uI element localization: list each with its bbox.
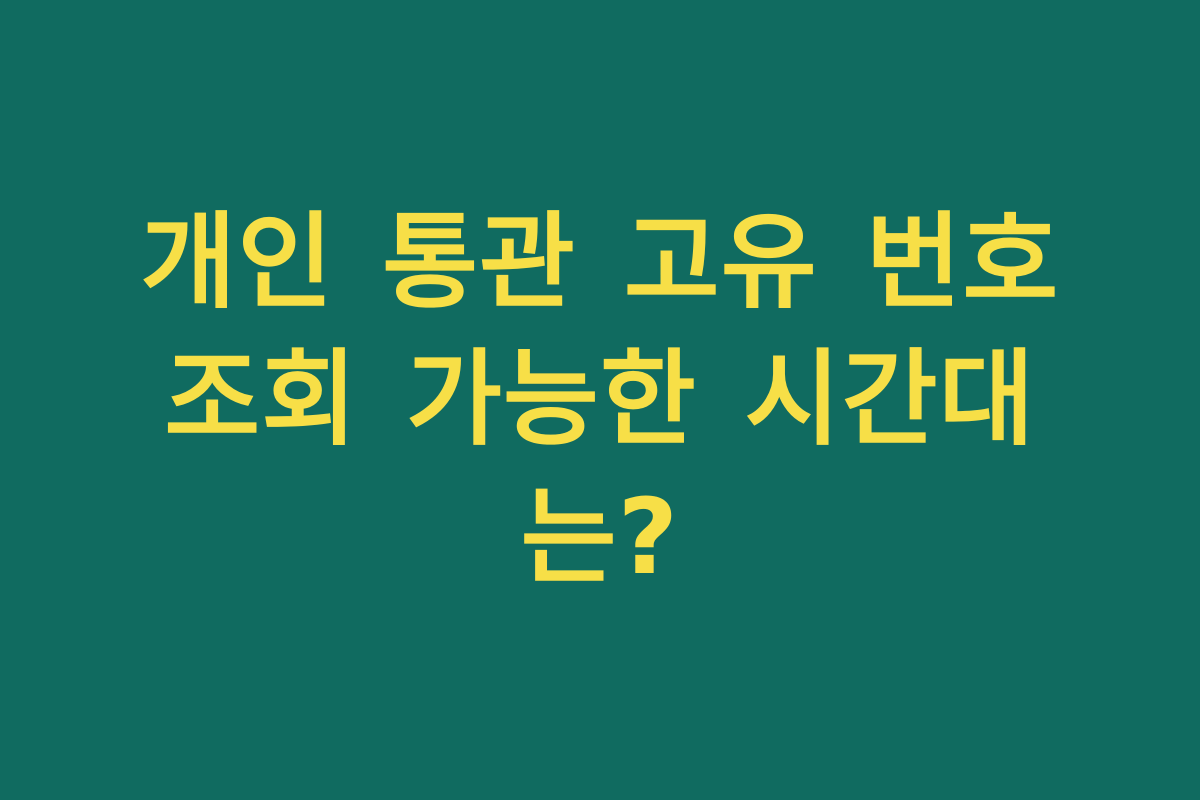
headline-text: 개인 통관 고유 번호 조회 가능한 시간대는? — [100, 194, 1100, 606]
headline-block: 개인 통관 고유 번호 조회 가능한 시간대는? — [100, 194, 1100, 606]
text-banner: 개인 통관 고유 번호 조회 가능한 시간대는? — [0, 0, 1200, 800]
